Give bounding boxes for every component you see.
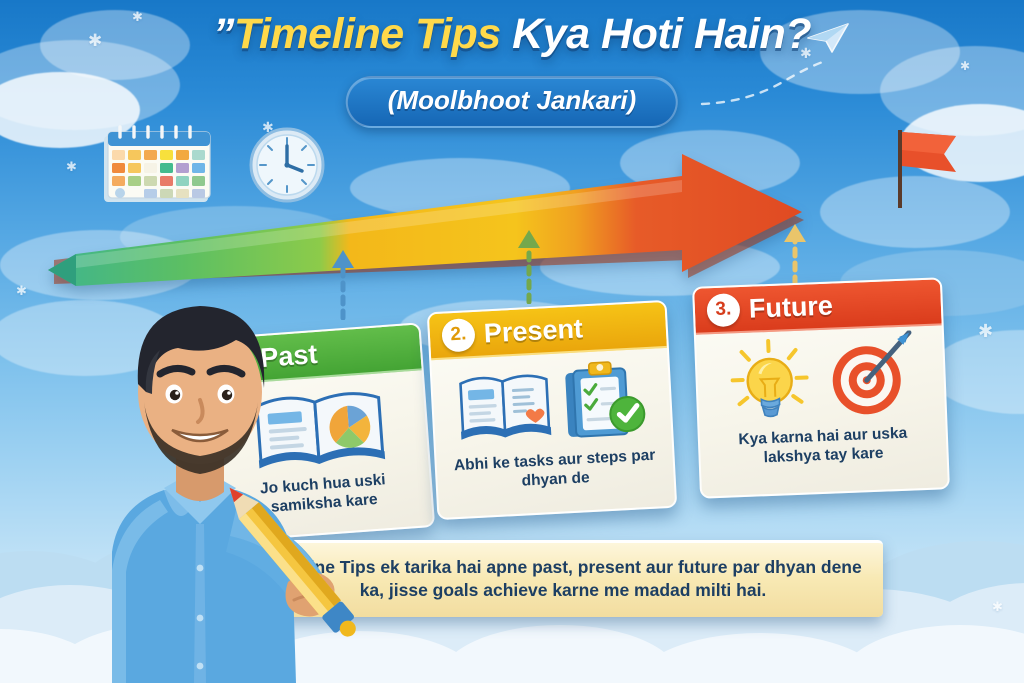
card-present-title: Present [483,313,584,349]
paper-plane-icon [806,22,850,54]
subtitle-pill: (Moolbhoot Jankari) [346,76,678,128]
card-future-number: 3. [706,293,740,327]
connector-arrow-present [516,228,542,304]
target-dartboard-icon [821,330,916,423]
sparkle-icon: ✱ [992,600,1003,613]
card-future-icons [696,325,945,428]
card-present-number: 2. [441,317,476,352]
subtitle-text: (Moolbhoot Jankari) [388,85,636,116]
dotted-trail-decoration [700,58,830,108]
card-present[interactable]: 2. Present [427,300,678,520]
card-future-header: 3. Future [694,279,942,334]
sparkle-icon: ✱ [978,322,993,340]
card-future[interactable]: 3. Future [692,277,950,498]
connector-arrow-future [782,222,808,286]
clipboard-checklist-icon [560,357,648,443]
goal-flag-icon [884,126,964,210]
open-book-icon [455,367,555,444]
card-future-description: Kya karna hai aur uska lakshya tay kare [699,419,947,482]
title-highlight: Timeline Tips [234,10,501,58]
sparkle-icon: ✱ [16,284,27,297]
presenter-illustration [60,252,360,683]
page-title: ”Timeline Tips Kya Hoti Hain? [0,10,1024,59]
sparkle-icon: ✱ [960,60,970,72]
infographic-canvas: ✱ ✱ ✱ ✱ ✱ ✱ ✱ ✱ ✱ ”Timeline Tips Kya Hot… [0,0,1024,683]
card-future-title: Future [748,290,833,324]
title-rest: Kya Hoti Hain? [501,10,811,58]
title-quote-mark: ” [213,10,234,58]
card-present-icons [431,348,672,454]
card-present-description: Abhi ke tasks aur steps par dhyan de [436,442,674,508]
lightbulb-icon [725,335,814,426]
